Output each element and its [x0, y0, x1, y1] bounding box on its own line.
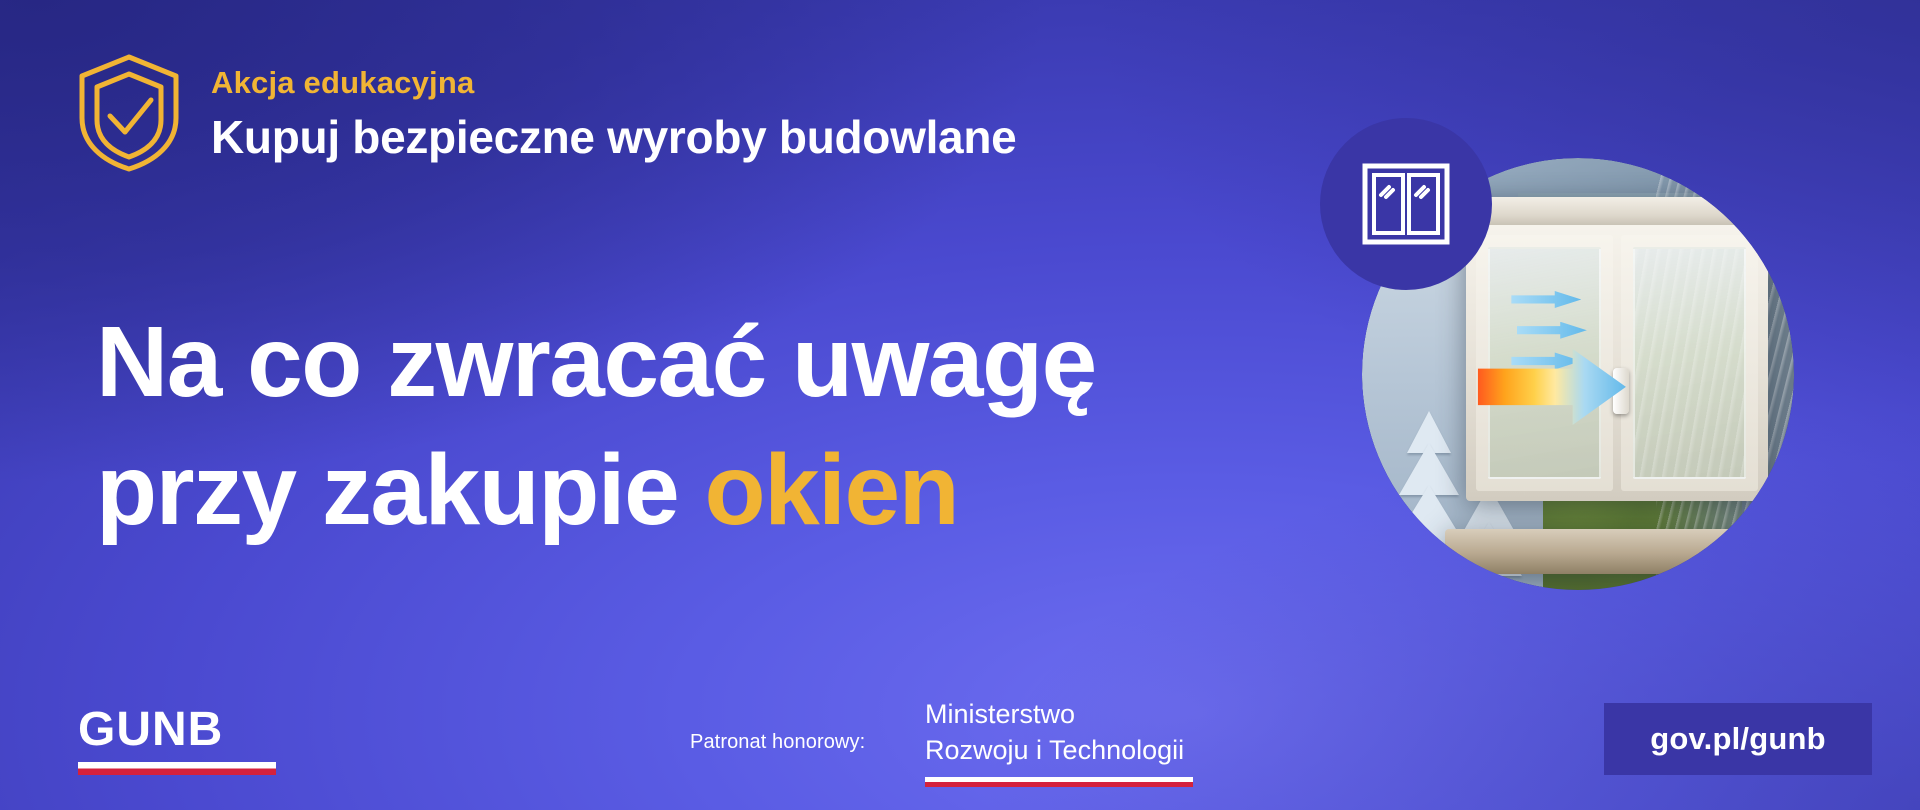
- window-sashes: [1466, 225, 1768, 501]
- shield-check-icon: [75, 52, 183, 174]
- window-icon: [1362, 163, 1450, 245]
- campaign-title: Kupuj bezpieczne wyroby budowlane: [211, 111, 1016, 164]
- campaign-kicker: Akcja edukacyjna: [211, 66, 1016, 100]
- page-title: Na co zwracać uwagę przy zakupie okien: [96, 298, 1096, 554]
- gov-url-label: gov.pl/gunb: [1650, 721, 1826, 757]
- ministry-line-1: Ministerstwo: [925, 697, 1193, 733]
- ministry-line-2: Rozwoju i Technologii: [925, 733, 1193, 769]
- gunb-logo-text: GUNB: [78, 706, 278, 754]
- window-photo-module: [1320, 118, 1830, 628]
- window-lintel: [1454, 197, 1781, 228]
- window-glass-right: [1633, 247, 1746, 479]
- ministry-flag-bar: [925, 777, 1193, 787]
- polish-flag-bar: [78, 762, 276, 775]
- gunb-logo[interactable]: GUNB: [78, 706, 278, 775]
- window-sash-left: [1476, 235, 1613, 491]
- patronage-label: Patronat honorowy:: [690, 731, 865, 754]
- gov-url-badge[interactable]: gov.pl/gunb: [1604, 703, 1872, 775]
- gunb-campaign-banner: Akcja edukacyjna Kupuj bezpieczne wyroby…: [0, 0, 1920, 810]
- campaign-header-texts: Akcja edukacyjna Kupuj bezpieczne wyroby…: [211, 66, 1016, 164]
- headline-line-2: przy zakupie okien: [96, 426, 1096, 554]
- campaign-header: Akcja edukacyjna Kupuj bezpieczne wyroby…: [75, 46, 1016, 174]
- headline-accent-word: okien: [704, 434, 958, 546]
- window-frame: [1466, 197, 1768, 543]
- window-sill: [1445, 529, 1790, 574]
- ministry-logo: Ministerstwo Rozwoju i Technologii: [925, 697, 1193, 787]
- headline-line-2-plain: przy zakupie: [96, 434, 704, 546]
- window-sash-right: [1621, 235, 1758, 491]
- headline-line-1: Na co zwracać uwagę: [96, 298, 1096, 426]
- window-badge: [1320, 118, 1492, 290]
